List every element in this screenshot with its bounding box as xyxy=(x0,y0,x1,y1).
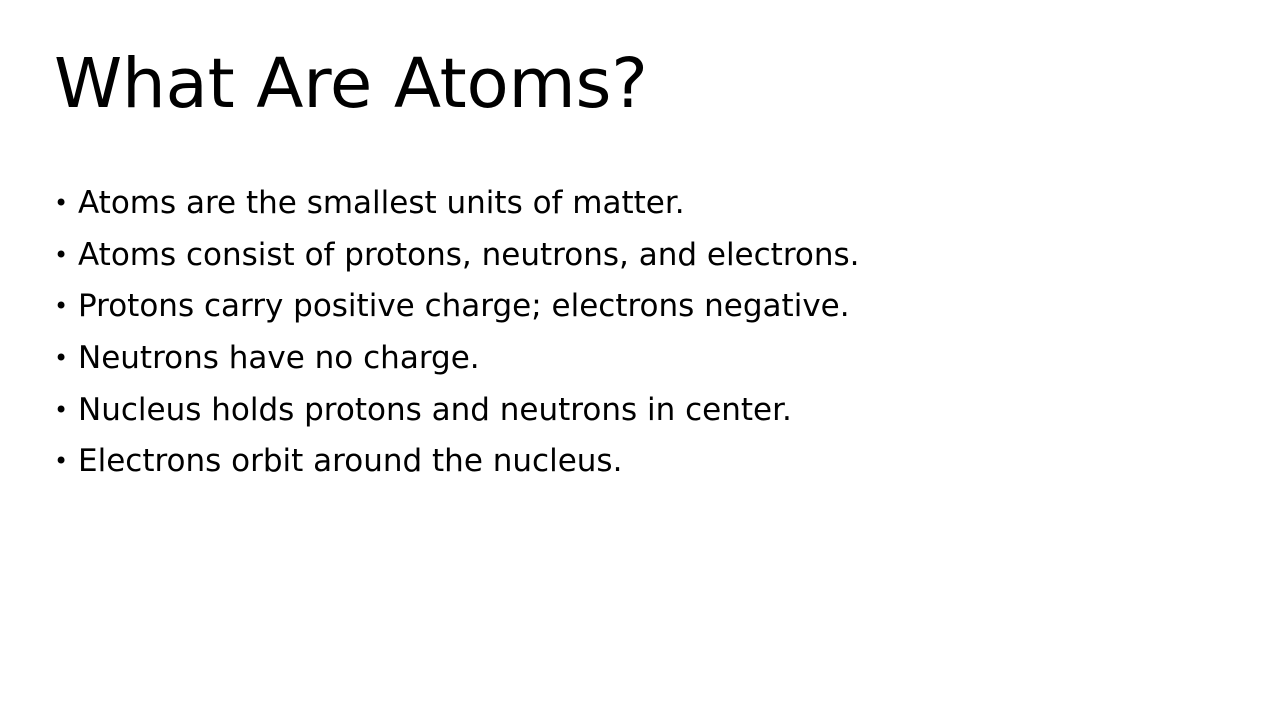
list-item: • Atoms are the smallest units of matter… xyxy=(54,178,1234,230)
list-item: • Atoms consist of protons, neutrons, an… xyxy=(54,230,1234,282)
list-item-label: Electrons orbit around the nucleus. xyxy=(78,436,622,488)
list-item-label: Protons carry positive charge; electrons… xyxy=(78,281,850,333)
list-item: • Nucleus holds protons and neutrons in … xyxy=(54,385,1234,437)
bullet-point-icon: • xyxy=(54,333,78,385)
list-item: • Protons carry positive charge; electro… xyxy=(54,281,1234,333)
list-item-label: Atoms consist of protons, neutrons, and … xyxy=(78,230,860,282)
bullet-point-icon: • xyxy=(54,281,78,333)
bullet-point-icon: • xyxy=(54,436,78,488)
presentation-slide: What Are Atoms? • Atoms are the smallest… xyxy=(0,0,1280,720)
list-item: • Neutrons have no charge. xyxy=(54,333,1234,385)
list-item-label: Neutrons have no charge. xyxy=(78,333,480,385)
list-item-label: Nucleus holds protons and neutrons in ce… xyxy=(78,385,792,437)
bullet-point-icon: • xyxy=(54,385,78,437)
list-item-label: Atoms are the smallest units of matter. xyxy=(78,178,685,230)
bullet-point-icon: • xyxy=(54,230,78,282)
list-item: • Electrons orbit around the nucleus. xyxy=(54,436,1234,488)
bullet-point-icon: • xyxy=(54,178,78,230)
page-title: What Are Atoms? xyxy=(54,50,1224,119)
bullet-list: • Atoms are the smallest units of matter… xyxy=(54,178,1234,488)
